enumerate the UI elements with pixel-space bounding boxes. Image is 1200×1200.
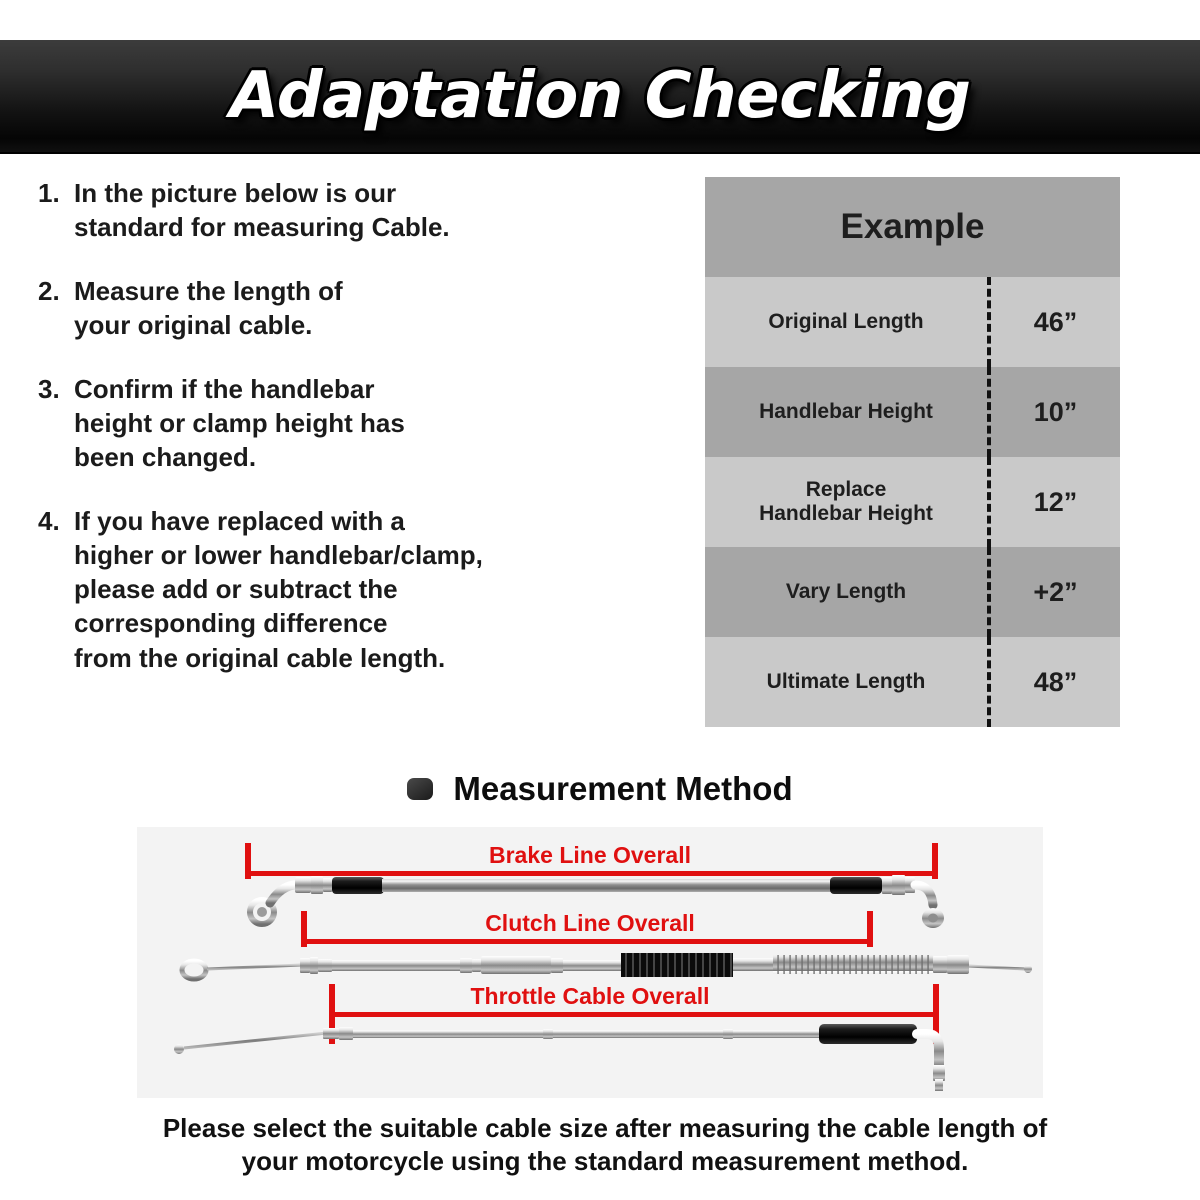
example-table: Example Original Length 46” Handlebar He… <box>705 177 1120 727</box>
measurement-diagram-panel: Brake Line Overall Clutch Line Overall <box>137 827 1043 1098</box>
table-title: Example <box>841 207 985 247</box>
section-title: Measurement Method <box>453 770 792 808</box>
step-number: 4. <box>38 504 74 538</box>
list-item: 3. Confirm if the handlebar height or cl… <box>38 372 658 474</box>
table-cell-value: 46” <box>991 277 1120 367</box>
table-cell-label: Original Length <box>705 277 987 367</box>
table-cell-label: Vary Length <box>705 547 987 637</box>
rounded-square-bullet-icon <box>407 778 433 800</box>
header-banner: Adaptation Checking <box>0 40 1200 154</box>
table-row: Original Length 46” <box>705 277 1120 367</box>
instruction-list: 1. In the picture below is our standard … <box>38 176 658 705</box>
brake-line-dimension: Brake Line Overall <box>245 842 938 879</box>
list-item: 2. Measure the length of your original c… <box>38 274 658 342</box>
step-number: 1. <box>38 176 74 210</box>
table-cell-label: Handlebar Height <box>705 367 987 457</box>
clutch-line-dimension-label: Clutch Line Overall <box>485 910 695 936</box>
step-number: 3. <box>38 372 74 406</box>
table-cell-label: Ultimate Length <box>705 637 987 727</box>
list-item: 4. If you have replaced with a higher or… <box>38 504 658 674</box>
step-text: In the picture below is our standard for… <box>74 176 450 244</box>
list-item: 1. In the picture below is our standard … <box>38 176 658 244</box>
table-header: Example <box>705 177 1120 277</box>
cable-diagram: Brake Line Overall Clutch Line Overall <box>137 827 1043 1098</box>
table-row: Replace Handlebar Height 12” <box>705 457 1120 547</box>
throttle-cable-dimension-label: Throttle Cable Overall <box>470 983 709 1009</box>
step-text: Measure the length of your original cabl… <box>74 274 343 342</box>
table-cell-value: 10” <box>991 367 1120 457</box>
step-number: 2. <box>38 274 74 308</box>
step-text: If you have replaced with a higher or lo… <box>74 504 483 674</box>
table-row: Vary Length +2” <box>705 547 1120 637</box>
table-cell-value: 12” <box>991 457 1120 547</box>
footer-note: Please select the suitable cable size af… <box>60 1112 1150 1179</box>
table-row: Handlebar Height 10” <box>705 367 1120 457</box>
throttle-cable <box>174 1024 945 1091</box>
table-cell-value: +2” <box>991 547 1120 637</box>
table-cell-label: Replace Handlebar Height <box>705 457 987 547</box>
step-text: Confirm if the handlebar height or clamp… <box>74 372 405 474</box>
clutch-line-dimension: Clutch Line Overall <box>301 910 873 947</box>
page-title: Adaptation Checking <box>230 59 971 133</box>
clutch-line-cable <box>182 953 1032 979</box>
measurement-method-heading: Measurement Method <box>0 770 1200 808</box>
brake-line-dimension-label: Brake Line Overall <box>489 842 691 868</box>
table-row: Ultimate Length 48” <box>705 637 1120 727</box>
table-cell-value: 48” <box>991 637 1120 727</box>
